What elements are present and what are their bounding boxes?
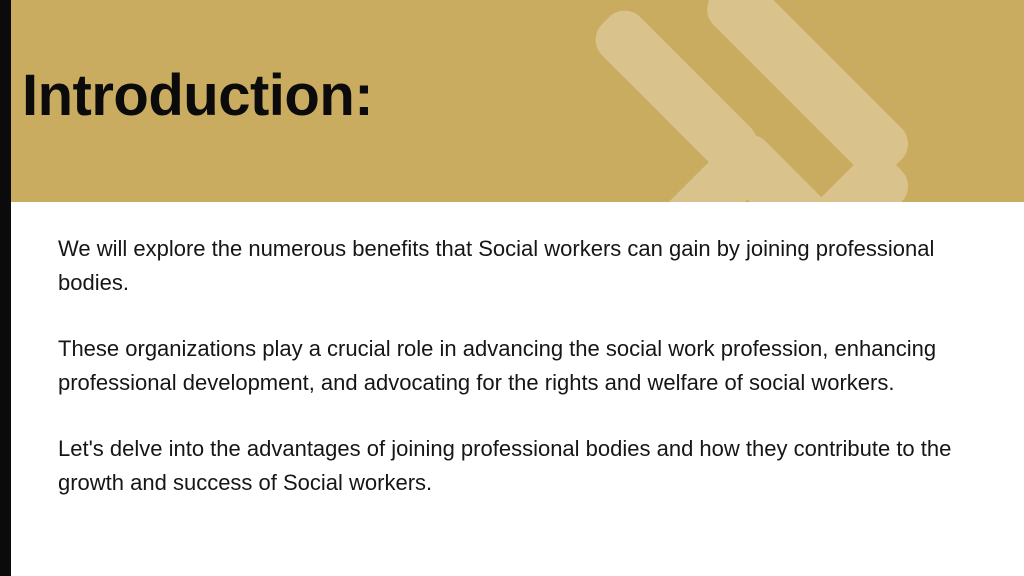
chevron-right-outer-lower-arm-icon — [698, 144, 917, 202]
chevron-right-large-lower-arm-icon — [586, 143, 766, 202]
chevron-right-outer-upper-arm-icon — [698, 0, 917, 186]
left-accent-rail — [0, 0, 11, 576]
body-paragraph-3: Let's delve into the advantages of joini… — [58, 432, 963, 500]
slide-body: We will explore the numerous benefits th… — [58, 232, 963, 500]
slide: Introduction: We will explore the numero… — [0, 0, 1024, 576]
chevron-right-lower-arm-icon — [712, 126, 877, 202]
chevron-right-large-upper-arm-icon — [586, 1, 766, 181]
slide-title: Introduction: — [22, 64, 373, 128]
body-paragraph-1: We will explore the numerous benefits th… — [58, 232, 963, 300]
body-paragraph-2: These organizations play a crucial role … — [58, 332, 963, 400]
